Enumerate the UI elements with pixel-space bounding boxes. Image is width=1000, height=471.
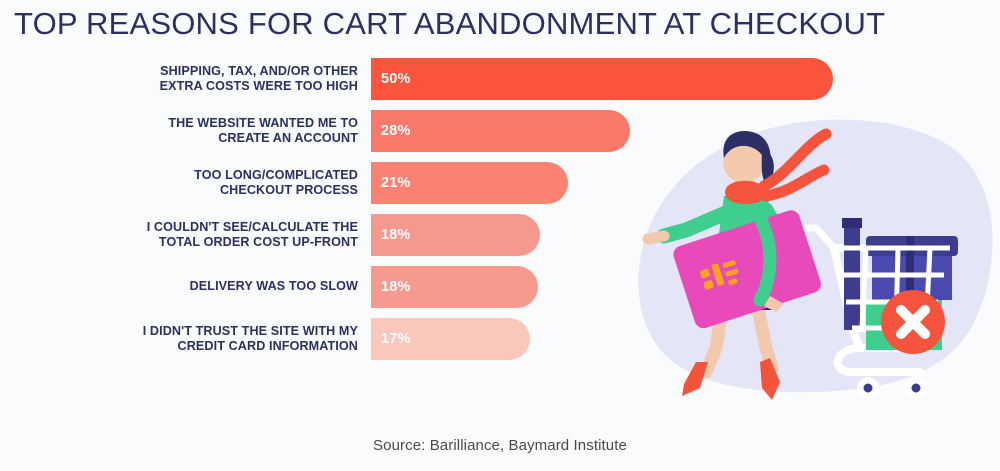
bar-track: 28% bbox=[371, 110, 630, 152]
bar-label-line: I COULDN'T SEE/CALCULATE THE bbox=[147, 220, 358, 236]
bar-label: DELIVERY WAS TOO SLOW bbox=[0, 266, 358, 308]
bar-value: 50% bbox=[381, 71, 411, 87]
bar-label-line: TOTAL ORDER COST UP-FRONT bbox=[159, 235, 358, 251]
bar-fill: 18% bbox=[371, 214, 540, 256]
bar-label-line: TOO LONG/COMPLICATED bbox=[194, 168, 358, 184]
source-note: Source: Barilliance, Baymard Institute bbox=[0, 437, 1000, 454]
bar-fill: 28% bbox=[371, 110, 630, 152]
bar-value: 17% bbox=[381, 331, 411, 347]
bar-row: SHIPPING, TAX, AND/OR OTHER EXTRA COSTS … bbox=[0, 58, 900, 100]
bar-row: THE WEBSITE WANTED ME TO CREATE AN ACCOU… bbox=[0, 110, 900, 152]
bar-track: 21% bbox=[371, 162, 568, 204]
bar-value: 18% bbox=[381, 279, 411, 295]
bar-label-line: CHECKOUT PROCESS bbox=[220, 183, 358, 199]
bar-row: I COULDN'T SEE/CALCULATE THE TOTAL ORDER… bbox=[0, 214, 900, 256]
bar-row: TOO LONG/COMPLICATED CHECKOUT PROCESS 21… bbox=[0, 162, 900, 204]
bar-value: 21% bbox=[381, 175, 411, 191]
bar-row: DELIVERY WAS TOO SLOW 18% bbox=[0, 266, 900, 308]
bar-track: 18% bbox=[371, 266, 538, 308]
bar-row: I DIDN'T TRUST THE SITE WITH MY CREDIT C… bbox=[0, 318, 900, 360]
bar-label: SHIPPING, TAX, AND/OR OTHER EXTRA COSTS … bbox=[0, 58, 358, 100]
bar-label: THE WEBSITE WANTED ME TO CREATE AN ACCOU… bbox=[0, 110, 358, 152]
bar-label-line: I DIDN'T TRUST THE SITE WITH MY bbox=[143, 324, 358, 340]
bar-value: 18% bbox=[381, 227, 411, 243]
bar-label-line: THE WEBSITE WANTED ME TO bbox=[168, 116, 358, 132]
bar-label: I COULDN'T SEE/CALCULATE THE TOTAL ORDER… bbox=[0, 214, 358, 256]
bar-track: 17% bbox=[371, 318, 530, 360]
bar-label: TOO LONG/COMPLICATED CHECKOUT PROCESS bbox=[0, 162, 358, 204]
bar-label-line: DELIVERY WAS TOO SLOW bbox=[190, 279, 358, 295]
bar-chart: SHIPPING, TAX, AND/OR OTHER EXTRA COSTS … bbox=[0, 58, 900, 370]
bar-label-line: CREDIT CARD INFORMATION bbox=[178, 339, 358, 355]
bar-fill: 21% bbox=[371, 162, 568, 204]
infographic-canvas: TOP REASONS FOR CART ABANDONMENT AT CHEC… bbox=[0, 0, 1000, 471]
bar-value: 28% bbox=[381, 123, 411, 139]
bar-label: I DIDN'T TRUST THE SITE WITH MY CREDIT C… bbox=[0, 318, 358, 360]
bar-label-line: SHIPPING, TAX, AND/OR OTHER bbox=[160, 64, 358, 80]
bar-track: 18% bbox=[371, 214, 540, 256]
bar-fill: 18% bbox=[371, 266, 538, 308]
bar-label-line: EXTRA COSTS WERE TOO HIGH bbox=[160, 79, 358, 95]
bar-label-line: CREATE AN ACCOUNT bbox=[218, 131, 358, 147]
bar-fill: 50% bbox=[371, 58, 833, 100]
bar-track: 50% bbox=[371, 58, 833, 100]
page-title: TOP REASONS FOR CART ABANDONMENT AT CHEC… bbox=[14, 4, 914, 44]
bar-fill: 17% bbox=[371, 318, 530, 360]
